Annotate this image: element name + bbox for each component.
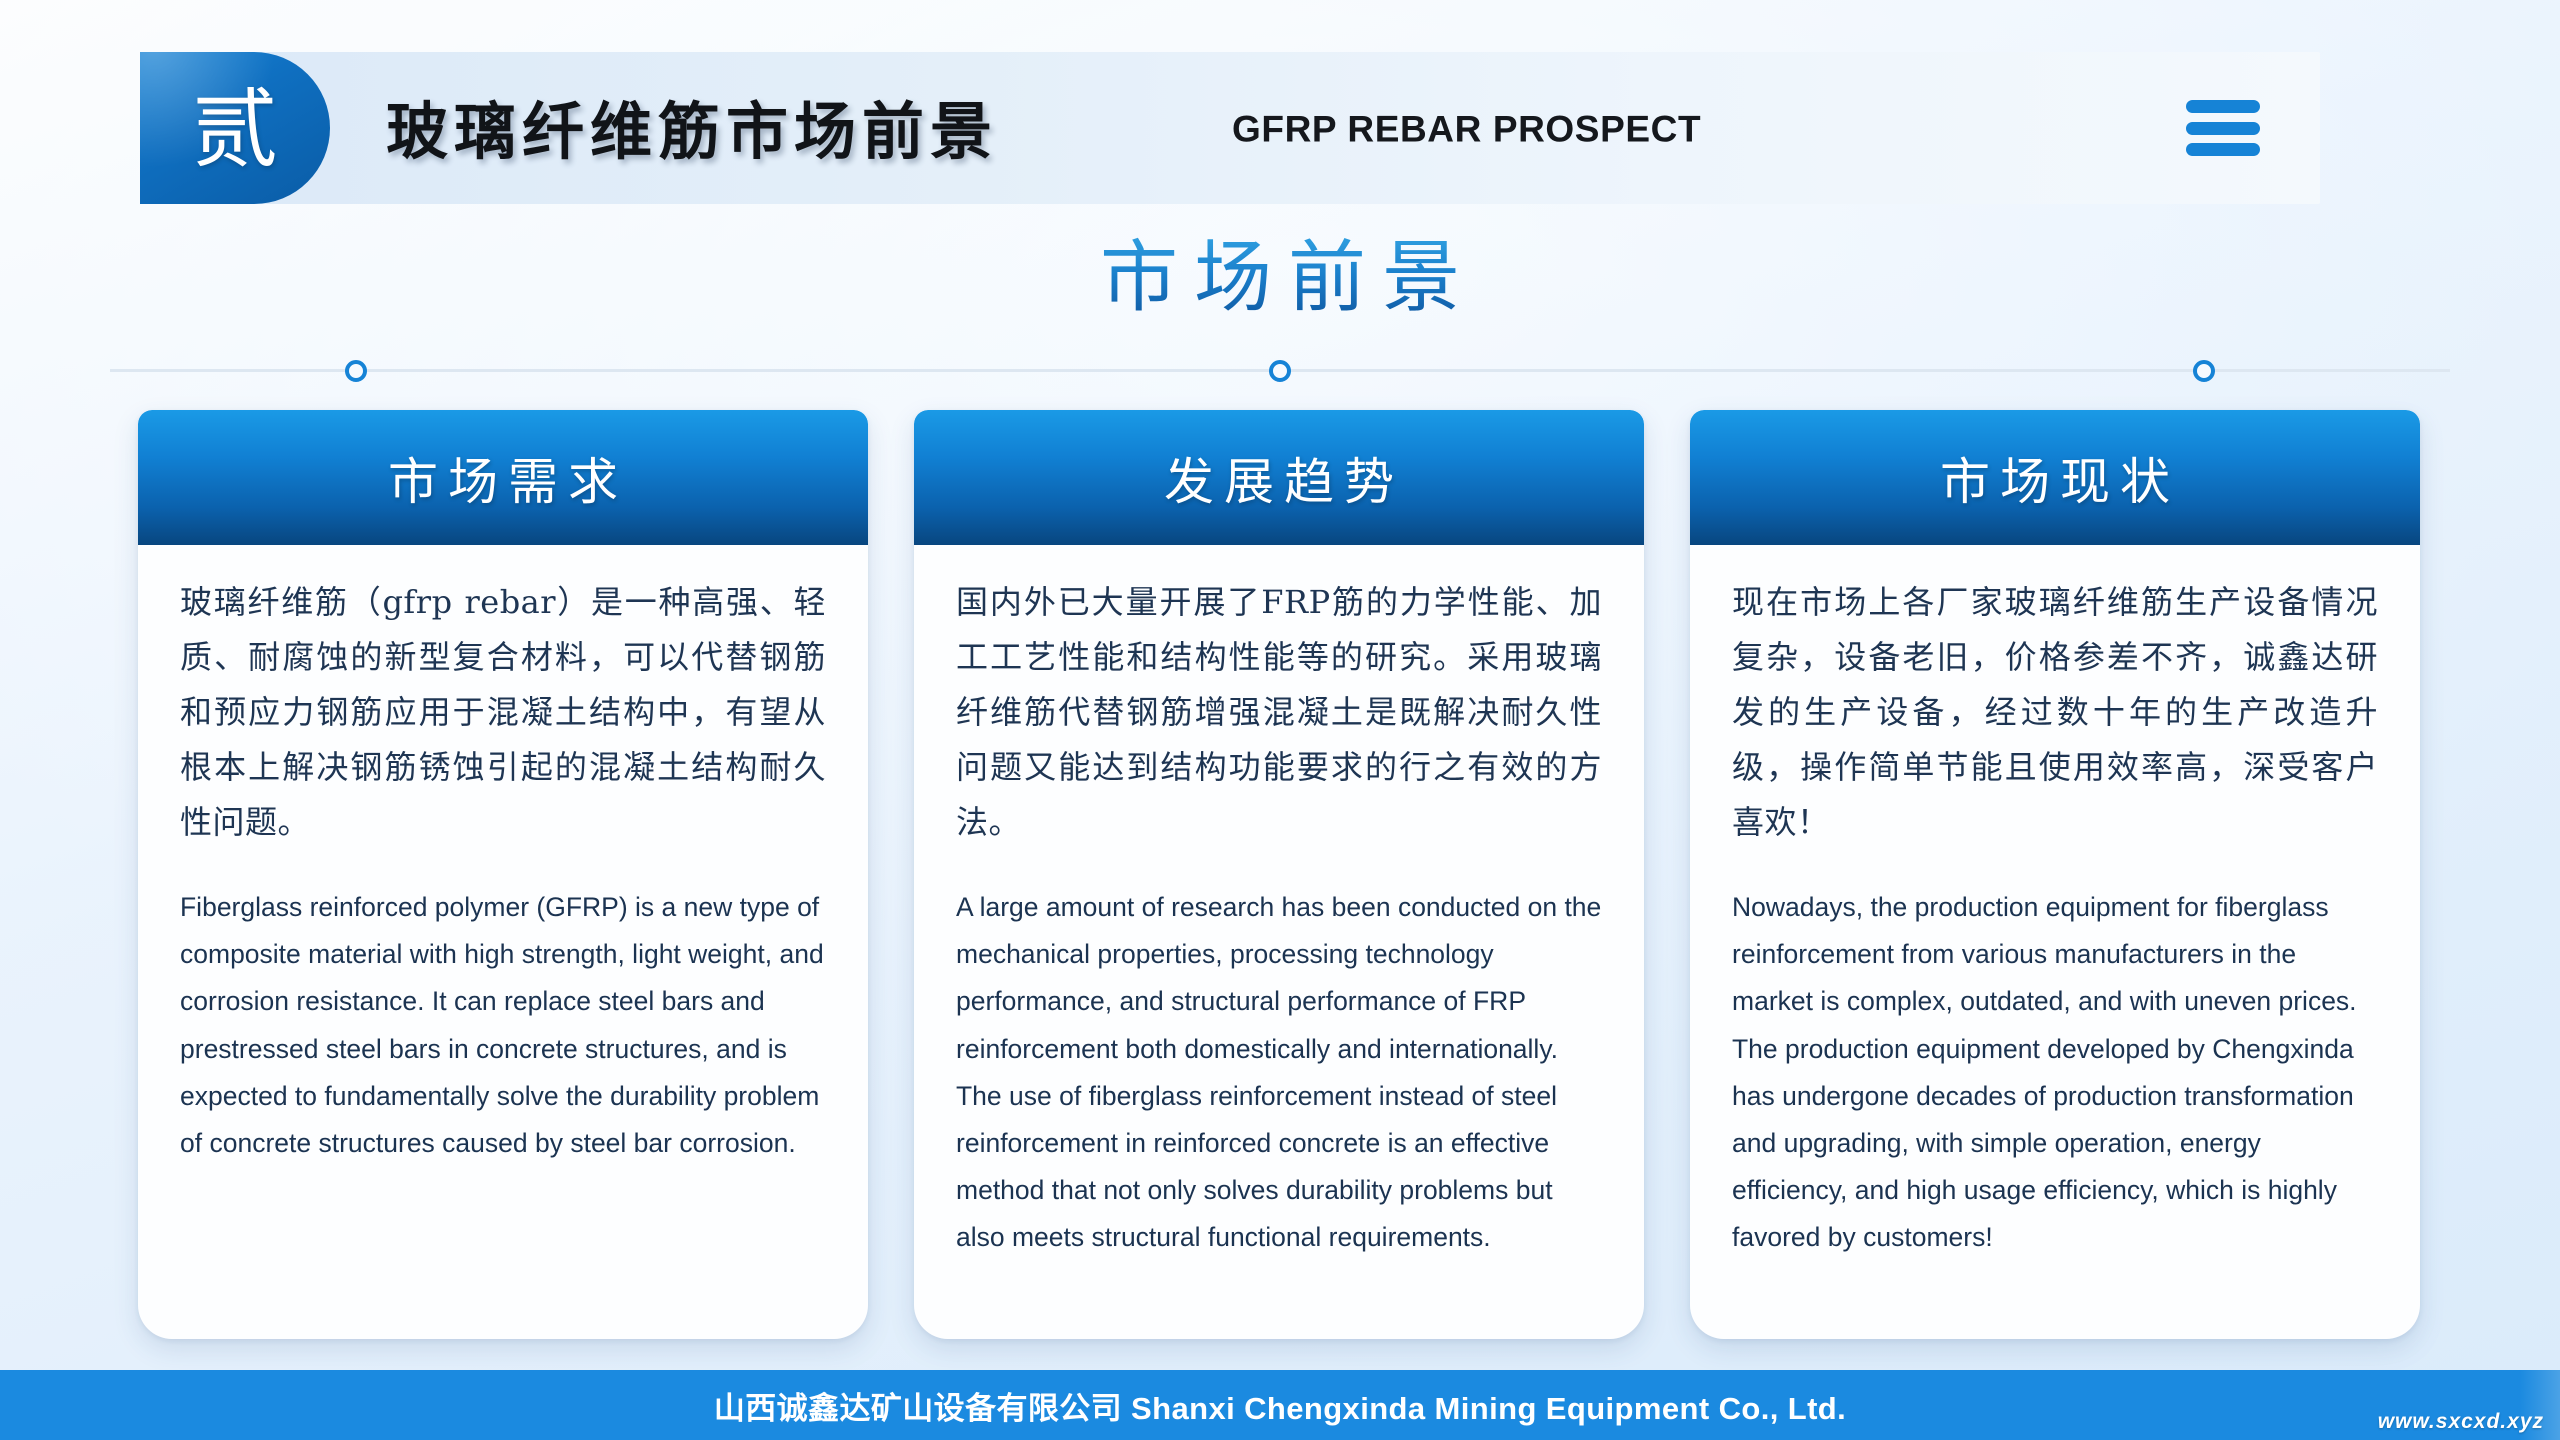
page-header: 贰 玻璃纤维筋市场前景 GFRP REBAR PROSPECT [140,52,2320,204]
card-market-status: 市场现状 现在市场上各厂家玻璃纤维筋生产设备情况复杂，设备老旧，价格参差不齐，诚… [1690,410,2420,1339]
header-title-chinese: 玻璃纤维筋市场前景 [386,81,998,171]
card-paragraph-english: A large amount of research has been cond… [956,884,1602,1261]
page-footer: 山西诚鑫达矿山设备有限公司 Shanxi Chengxinda Mining E… [0,1370,2560,1440]
card-heading-label: 市场需求 [378,442,628,514]
card-header-market-status: 市场现状 [1690,410,2420,545]
divider-dot-right [2193,360,2215,382]
card-paragraph-chinese: 现在市场上各厂家玻璃纤维筋生产设备情况复杂，设备老旧，价格参差不齐，诚鑫达研发的… [1732,575,2378,850]
footer-company-name: 山西诚鑫达矿山设备有限公司 Shanxi Chengxinda Mining E… [714,1383,1846,1428]
section-title: 市场前景 [0,236,2560,322]
hamburger-bar-bottom [2186,143,2260,156]
section-divider [110,369,2450,372]
card-heading-label: 市场现状 [1930,442,2180,514]
header-title-english: GFRP REBAR PROSPECT [1232,109,1701,151]
card-body-development-trend: 国内外已大量开展了FRP筋的力学性能、加工工艺性能和结构性能等的研究。采用玻璃纤… [914,545,1644,1339]
card-paragraph-chinese: 玻璃纤维筋（gfrp rebar）是一种高强、轻质、耐腐蚀的新型复合材料，可以代… [180,575,826,850]
card-header-market-demand: 市场需求 [138,410,868,545]
card-body-market-status: 现在市场上各厂家玻璃纤维筋生产设备情况复杂，设备老旧，价格参差不齐，诚鑫达研发的… [1690,545,2420,1339]
card-body-market-demand: 玻璃纤维筋（gfrp rebar）是一种高强、轻质、耐腐蚀的新型复合材料，可以代… [138,545,868,1339]
chapter-number-badge: 贰 [140,52,330,204]
card-development-trend: 发展趋势 国内外已大量开展了FRP筋的力学性能、加工工艺性能和结构性能等的研究。… [914,410,1644,1339]
hamburger-bar-top [2186,100,2260,113]
divider-dot-center [1269,360,1291,382]
card-paragraph-english: Nowadays, the production equipment for f… [1732,884,2378,1261]
card-group: 市场需求 玻璃纤维筋（gfrp rebar）是一种高强、轻质、耐腐蚀的新型复合材… [138,410,2422,1339]
hamburger-menu-icon[interactable] [2186,100,2260,156]
site-watermark: www.sxcxd.xyz [2378,1410,2544,1434]
hamburger-bar-middle [2186,122,2260,135]
card-header-development-trend: 发展趋势 [914,410,1644,545]
card-paragraph-english: Fiberglass reinforced polymer (GFRP) is … [180,884,826,1167]
card-market-demand: 市场需求 玻璃纤维筋（gfrp rebar）是一种高强、轻质、耐腐蚀的新型复合材… [138,410,868,1339]
chapter-number-label: 贰 [192,87,278,173]
card-heading-label: 发展趋势 [1154,442,1404,514]
divider-dot-left [345,360,367,382]
card-paragraph-chinese: 国内外已大量开展了FRP筋的力学性能、加工工艺性能和结构性能等的研究。采用玻璃纤… [956,575,1602,850]
